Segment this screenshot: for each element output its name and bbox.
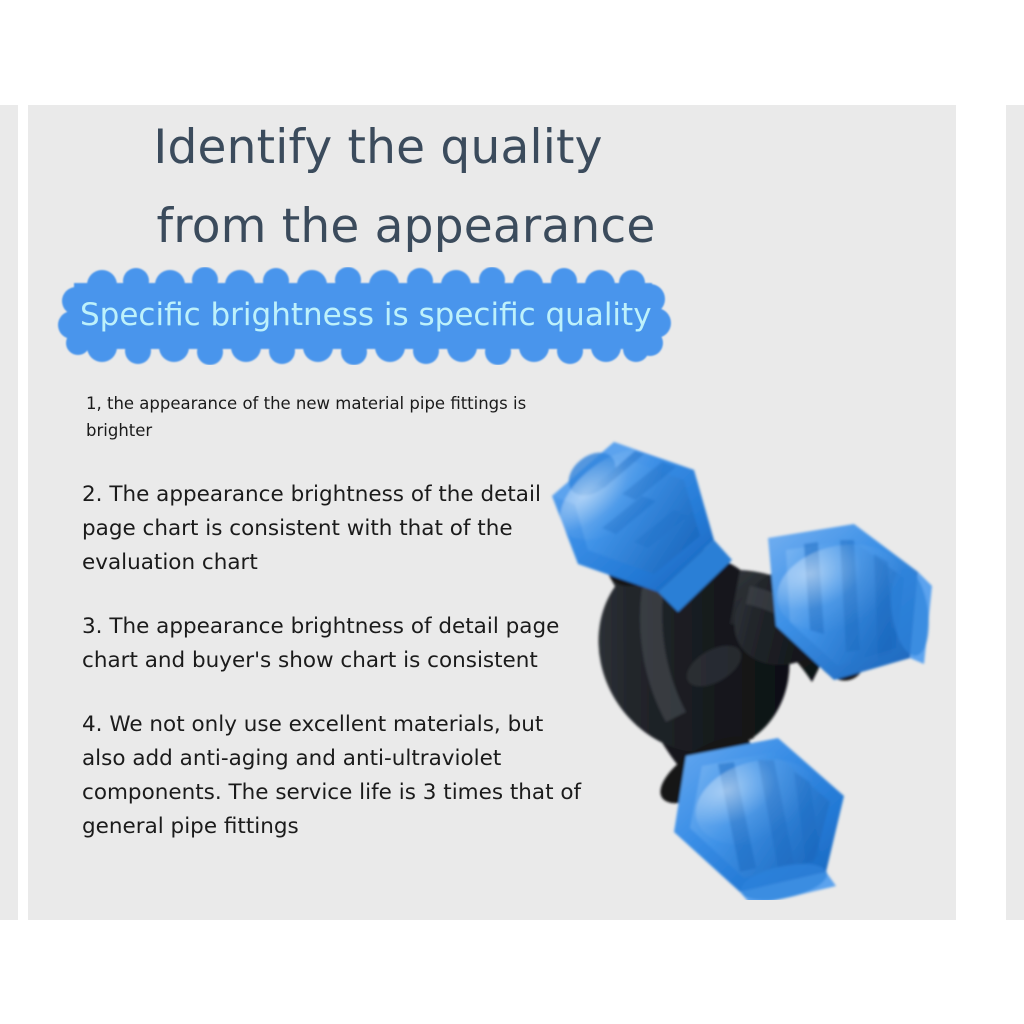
page-title-line-2: from the appearance [28, 188, 728, 267]
feature-item-4: 4. We not only use excellent materials, … [82, 708, 582, 844]
content-card: Identify the quality from the appearance [28, 105, 956, 920]
product-photo-tee-fitting [518, 420, 956, 900]
feature-item-2: 2. The appearance brightness of the deta… [82, 478, 582, 580]
adjacent-page-sliver-right [1006, 105, 1024, 920]
blue-nut-bottom [674, 738, 844, 900]
feature-list: 1, the appearance of the new material pi… [82, 390, 582, 874]
tee-fitting-illustration [518, 420, 956, 900]
infographic-canvas: Identify the quality from the appearance [0, 0, 1024, 1024]
highlight-banner: Specific brightness is specific quality [50, 267, 676, 365]
feature-item-1: 1, the appearance of the new material pi… [82, 390, 582, 444]
banner-label: Specific brightness is specific quality [80, 293, 660, 337]
adjacent-page-sliver-left [0, 105, 18, 920]
feature-item-3: 3. The appearance brightness of detail p… [82, 610, 582, 678]
page-title-line-1: Identify the quality [28, 109, 728, 188]
page-title: Identify the quality from the appearance [28, 109, 728, 267]
blue-nut-top-left [544, 430, 732, 612]
